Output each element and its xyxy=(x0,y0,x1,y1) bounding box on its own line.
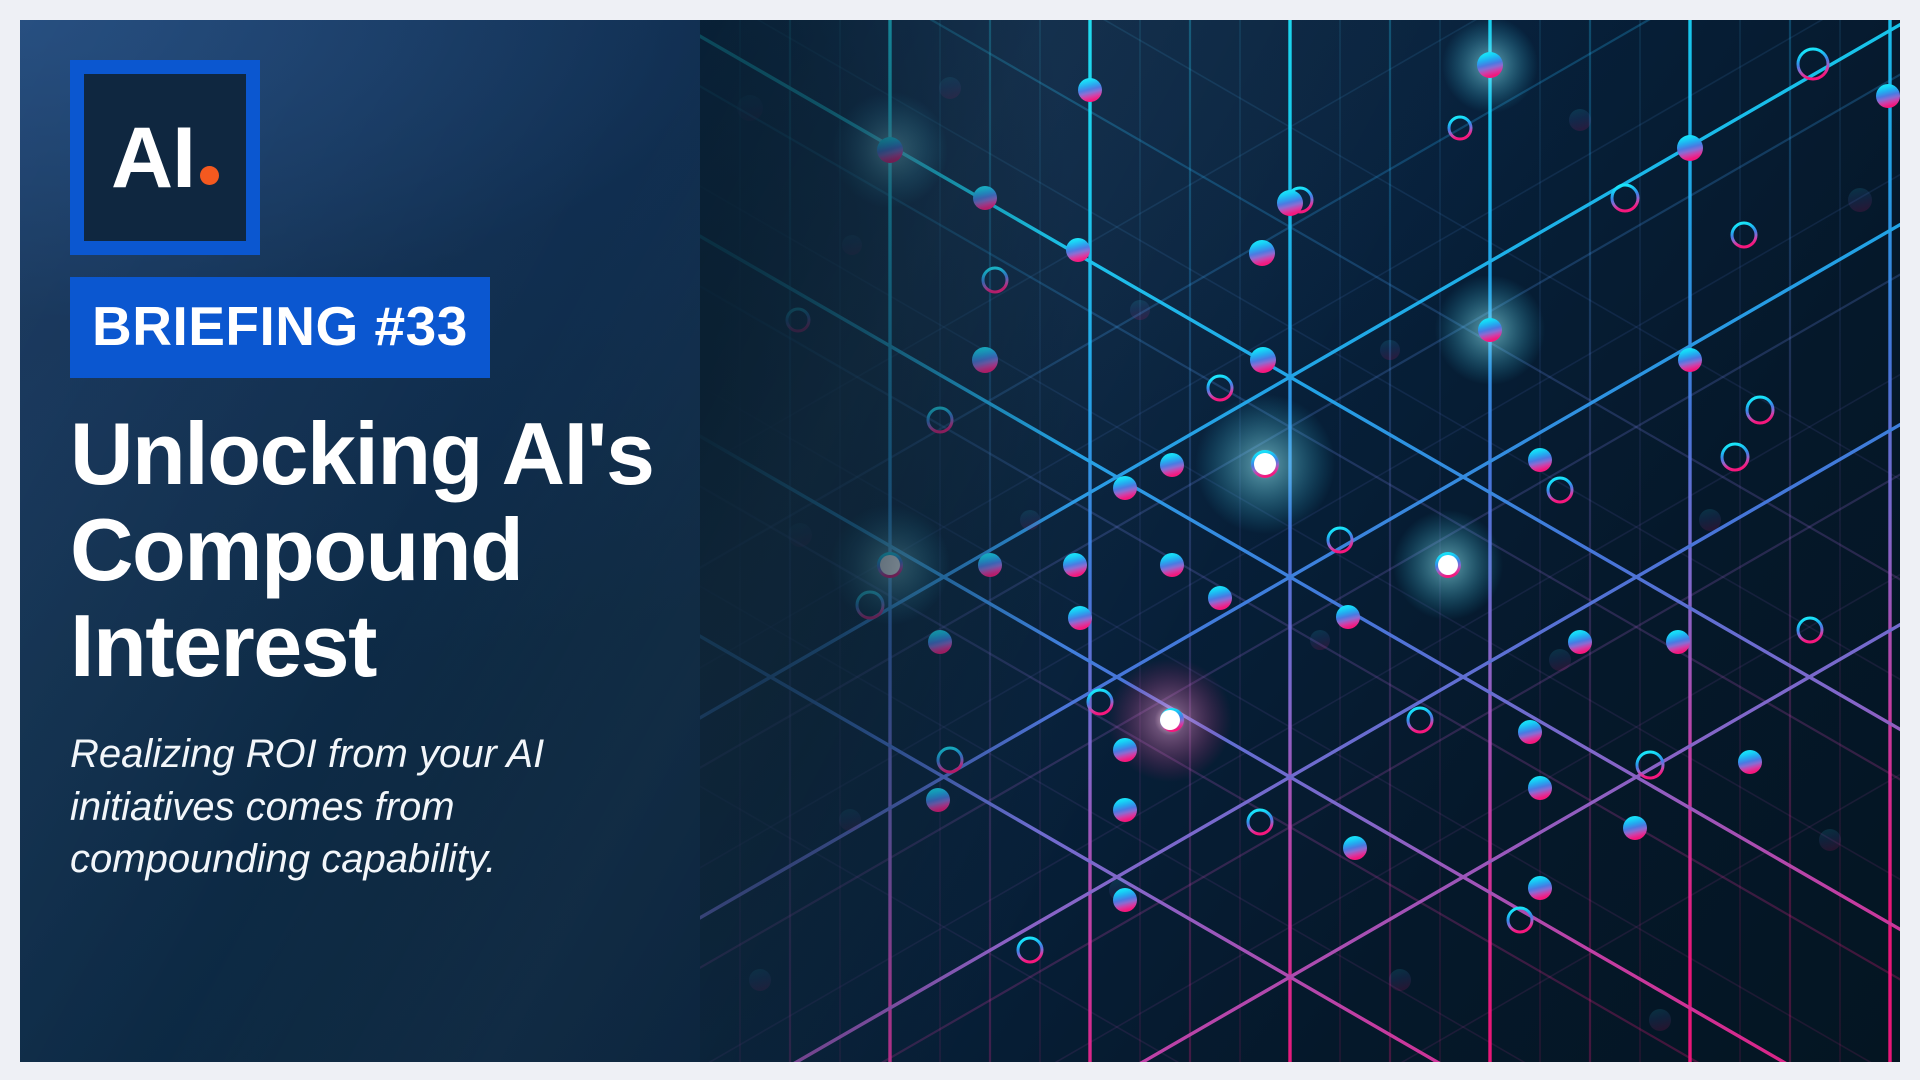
briefing-badge: BRIEFING #33 xyxy=(70,277,490,378)
logo-accent-dot xyxy=(200,166,219,185)
headline-line-1: Unlocking AI's xyxy=(70,406,790,502)
page-title: Unlocking AI's Compound Interest xyxy=(70,406,790,694)
logo-mark: AI xyxy=(111,115,219,201)
content-column: AI BRIEFING #33 Unlocking AI's Compound … xyxy=(70,60,790,886)
isometric-network-graphic xyxy=(700,20,1900,1062)
briefing-card: AI BRIEFING #33 Unlocking AI's Compound … xyxy=(20,20,1900,1062)
headline-line-2: Compound xyxy=(70,502,790,598)
ai-logo: AI xyxy=(70,60,260,255)
logo-text: AI xyxy=(111,115,195,201)
headline-line-3: Interest xyxy=(70,598,790,694)
subtitle: Realizing ROI from your AI initiatives c… xyxy=(70,728,690,886)
